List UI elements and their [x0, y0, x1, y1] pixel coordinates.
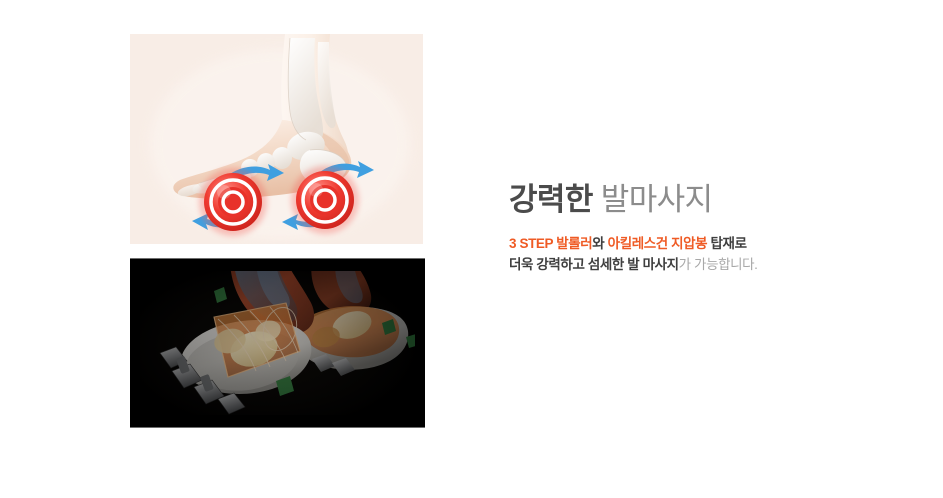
feature-highlight-achilles: 아킬레스건 지압봉 — [608, 236, 708, 251]
foot-roller-illustration — [130, 34, 423, 244]
feature-text-conjunction: 와 — [592, 236, 607, 251]
copy-column: 강력한 발마사지 3 STEP 발롤러와 아킬레스건 지압봉 탑재로 더욱 강력… — [509, 181, 909, 275]
feature-text-equipped: 탑재로 — [707, 236, 746, 251]
feature-description-line-2: 더욱 강력하고 섬세한 발 마사지가 가능합니다. — [509, 254, 909, 275]
feature-highlight-roller: 3 STEP 발롤러 — [509, 236, 592, 251]
headline-strong: 강력한 — [509, 182, 593, 217]
feature-text-benefit-tail: 가 가능합니다. — [679, 257, 758, 272]
headline-light: 발마사지 — [601, 182, 713, 217]
product-feature-section: 강력한 발마사지 3 STEP 발롤러와 아킬레스건 지압봉 탑재로 더욱 강력… — [0, 0, 943, 498]
feature-text-benefit: 더욱 강력하고 섬세한 발 마사지 — [509, 257, 679, 272]
media-column — [130, 34, 425, 428]
feature-description-line-1: 3 STEP 발롤러와 아킬레스건 지압봉 탑재로 — [509, 233, 909, 254]
foot-massager-mechanism-render — [130, 258, 425, 428]
feature-description: 3 STEP 발롤러와 아킬레스건 지압봉 탑재로 더욱 강력하고 섬세한 발 … — [509, 233, 909, 275]
page-title: 강력한 발마사지 — [509, 181, 909, 219]
